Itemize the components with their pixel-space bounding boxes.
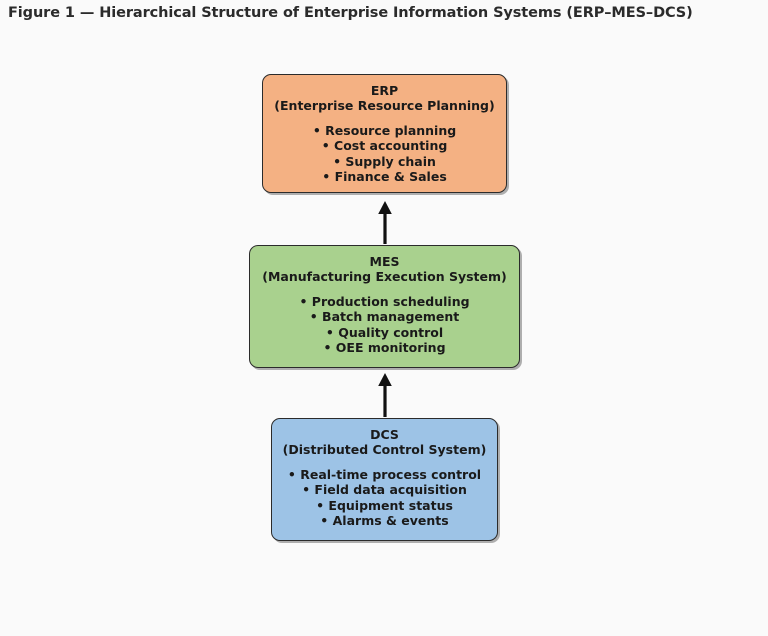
figure-title: Figure 1 — Hierarchical Structure of Ent…: [8, 5, 693, 21]
node-dcs-bullets: • Real-time process control • Field data…: [272, 467, 497, 528]
bullet-item: • Resource planning: [263, 123, 506, 138]
bullet-item: • OEE monitoring: [250, 340, 519, 355]
node-dcs: DCS (Distributed Control System) • Real-…: [271, 418, 498, 541]
bullet-item: • Real-time process control: [272, 467, 497, 482]
arrow-mes-to-erp-icon: [373, 200, 397, 244]
bullet-item: • Field data acquisition: [272, 482, 497, 497]
bullet-item: • Cost accounting: [263, 138, 506, 153]
node-erp-bullets: • Resource planning • Cost accounting • …: [263, 123, 506, 184]
bullet-item: • Batch management: [250, 309, 519, 324]
node-mes-subtitle: (Manufacturing Execution System): [250, 269, 519, 284]
node-mes-bullets: • Production scheduling • Batch manageme…: [250, 294, 519, 355]
arrow-dcs-to-mes-icon: [373, 372, 397, 417]
bullet-item: • Finance & Sales: [263, 169, 506, 184]
node-dcs-subtitle: (Distributed Control System): [272, 442, 497, 457]
node-mes: MES (Manufacturing Execution System) • P…: [249, 245, 520, 368]
bullet-item: • Alarms & events: [272, 513, 497, 528]
node-erp-title: ERP: [263, 83, 506, 98]
bullet-item: • Supply chain: [263, 154, 506, 169]
bullet-item: • Production scheduling: [250, 294, 519, 309]
node-dcs-title: DCS: [272, 427, 497, 442]
node-erp-subtitle: (Enterprise Resource Planning): [263, 98, 506, 113]
node-mes-title: MES: [250, 254, 519, 269]
bullet-item: • Quality control: [250, 325, 519, 340]
node-erp: ERP (Enterprise Resource Planning) • Res…: [262, 74, 507, 193]
bullet-item: • Equipment status: [272, 498, 497, 513]
